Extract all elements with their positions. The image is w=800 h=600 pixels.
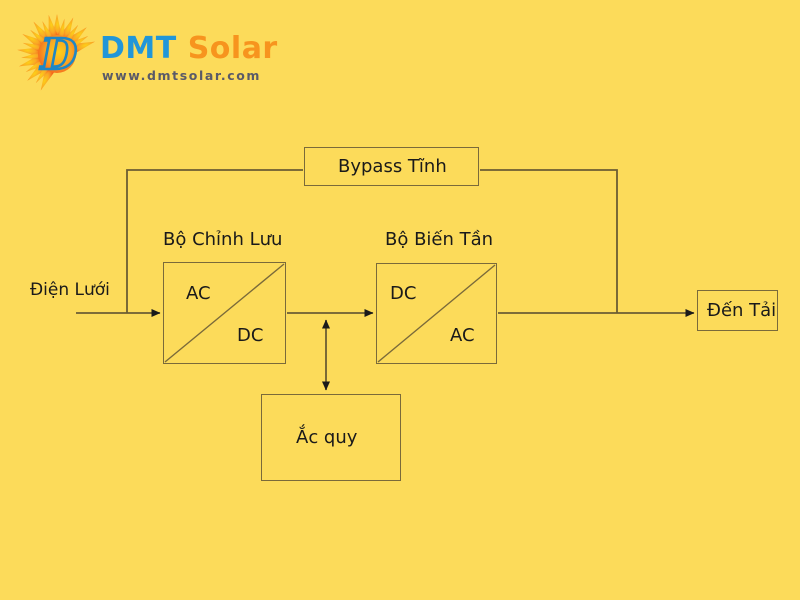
block-load-label: Đến Tải	[707, 300, 776, 321]
block-battery-label: Ắc quy	[296, 427, 357, 448]
block-rectifier-input-label: AC	[186, 283, 211, 304]
block-inverter-output-label: AC	[450, 325, 475, 346]
diagram-canvas: D DMT Solar www.dmtsolar.com	[0, 0, 800, 600]
block-rectifier-output-label: DC	[237, 325, 263, 346]
block-inverter-input-label: DC	[390, 283, 416, 304]
ups-block-diagram: Bypass Tĩnh Bộ Chỉnh Lưu AC DC Bộ Biến T…	[0, 0, 800, 600]
grid-input-label: Điện Lưới	[30, 280, 110, 300]
rectifier-diagonal-icon	[164, 263, 285, 363]
block-rectifier[interactable]	[163, 262, 286, 364]
block-inverter[interactable]	[376, 263, 497, 364]
block-rectifier-caption: Bộ Chỉnh Lưu	[163, 229, 282, 250]
inverter-diagonal-icon	[377, 264, 496, 363]
block-bypass-label: Bypass Tĩnh	[338, 156, 447, 177]
block-inverter-caption: Bộ Biến Tần	[385, 229, 493, 250]
